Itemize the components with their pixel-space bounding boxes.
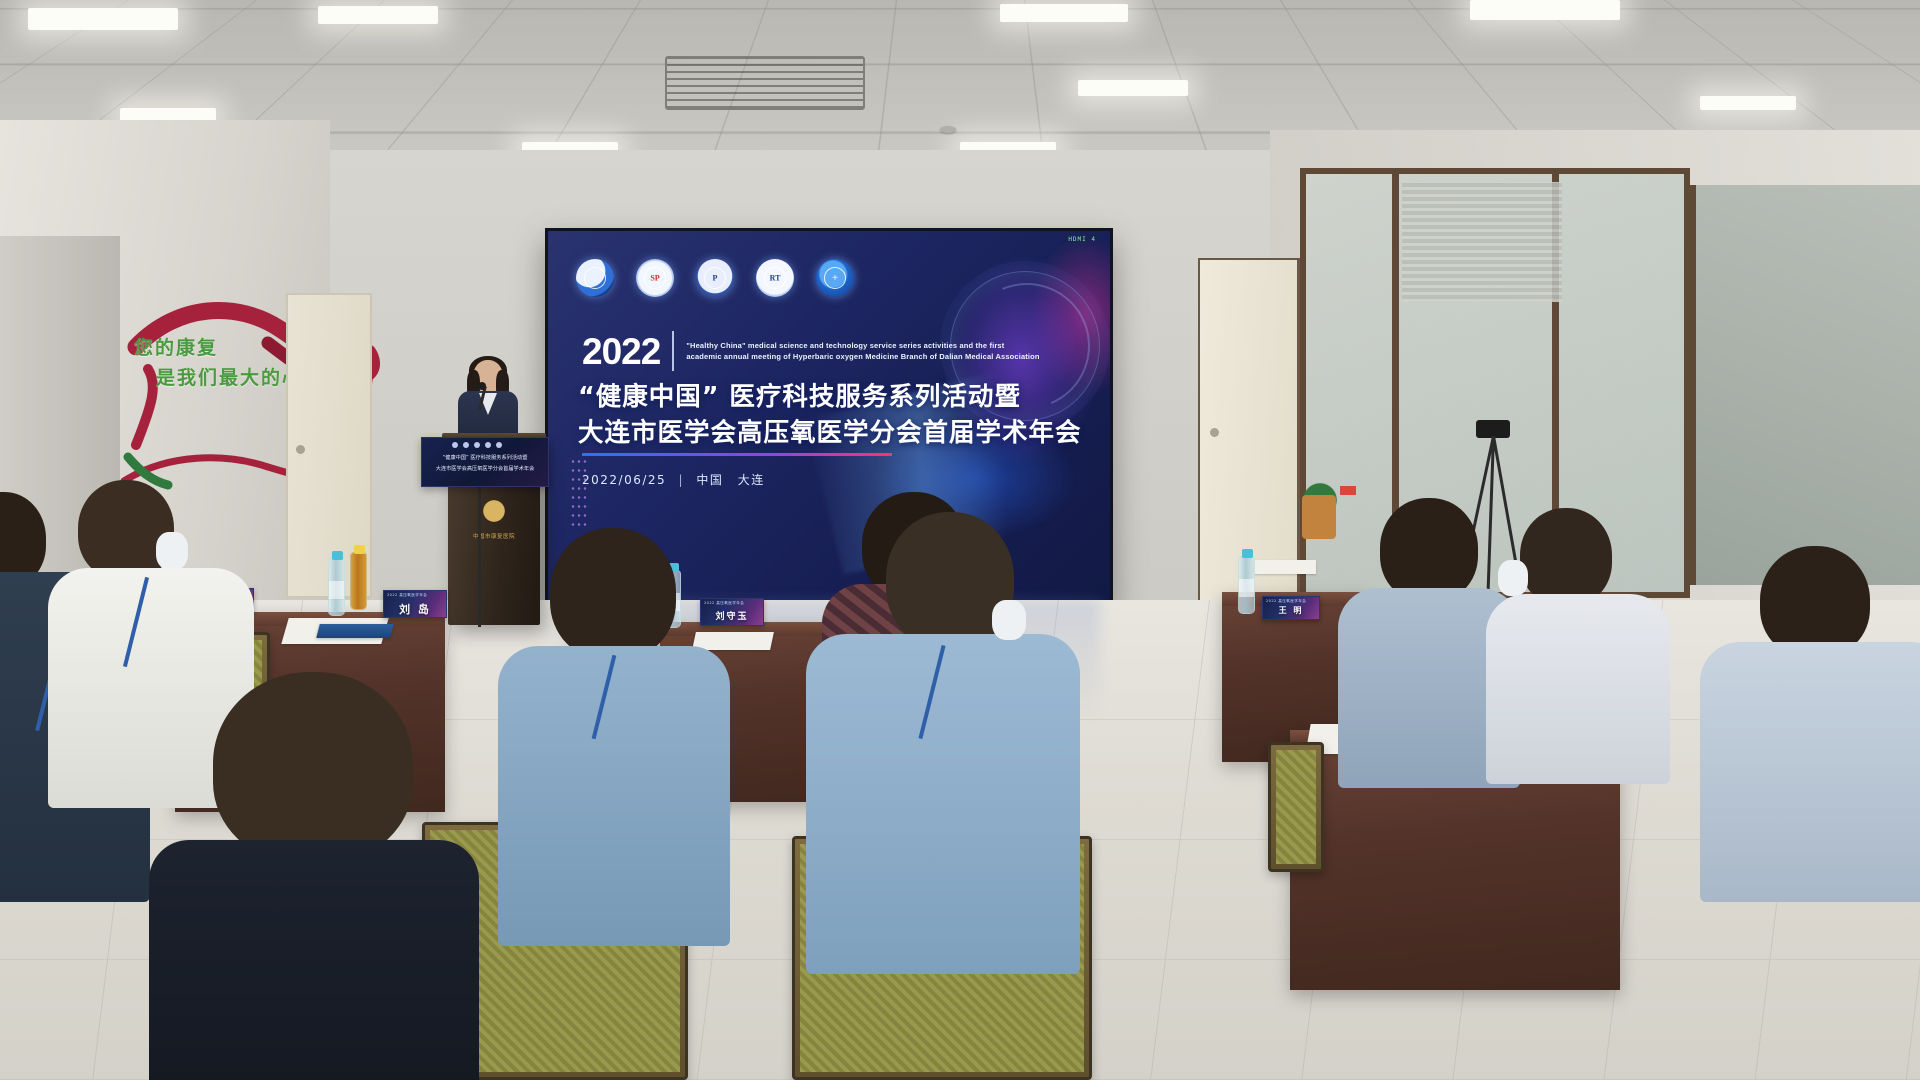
bottle-cap: [354, 545, 365, 554]
logo-mark-label: P: [713, 274, 718, 283]
screen-year: 2022: [582, 333, 660, 370]
screen-chinese-title: “健康中国” 医疗科技服务系列活动暨 大连市医学会高压氧医学分会首届学术年会: [578, 379, 1082, 451]
screen-decorative-dots: [570, 457, 588, 527]
attendee-head: [1520, 508, 1612, 606]
screen-date-line: 2022/06/25 | 中国 大连: [582, 471, 765, 488]
face-mask: [156, 532, 188, 570]
event-country: 中国: [696, 473, 723, 487]
podium-sign: “健康中国” 医疗科技服务系列活动暨 大连市医学会高压氧医学分会首届学术年会: [421, 437, 549, 487]
podium-sign-line-1: “健康中国” 医疗科技服务系列活动暨: [422, 454, 548, 461]
water-bottle: [1238, 556, 1255, 614]
ceiling-light: [28, 8, 178, 30]
logo-ring: [584, 267, 607, 290]
nametent-center: 2022 高压氧医学年会 刘 岛: [383, 590, 447, 618]
attendee-bottom-right: [1700, 546, 1920, 886]
attendee-far-right: [1486, 508, 1666, 768]
chair: [1268, 742, 1324, 872]
ceiling-light: [1700, 96, 1796, 110]
nametent-right: 2022 高压氧医学年会 王 明: [1262, 596, 1320, 620]
attendee-body: [149, 840, 479, 1080]
hospital-emblem-icon: [481, 498, 507, 524]
attendee-body: [806, 634, 1080, 974]
screen-accent-underline: [582, 453, 892, 456]
screen-logo-row: SP P RT +: [576, 259, 854, 297]
chinese-title-line-2: 大连市医学会高压氧医学分会首届学术年会: [578, 415, 1082, 451]
nametent-top-label: 2022 高压氧医学年会: [1266, 599, 1306, 604]
ceiling-air-vent: [665, 56, 865, 110]
logo-hyperbaric-branch: P: [696, 259, 734, 297]
microphone-head-icon: [478, 382, 486, 390]
window-blind: [1402, 182, 1562, 302]
ceiling-light: [1078, 80, 1188, 96]
glass-partition-far: [1690, 185, 1920, 585]
attendee-body: [1486, 594, 1670, 784]
english-line-2: academic annual meeting of Hyperbaric ox…: [686, 351, 1039, 362]
attendee-head: [213, 672, 413, 862]
screen-english-subtitle: "Healthy China" medical science and tech…: [686, 340, 1039, 363]
folder: [316, 624, 393, 638]
english-line-1: "Healthy China" medical science and tech…: [686, 340, 1039, 351]
conference-room-scene: 您的康复 是我们最大的心愿 HDMI 4: [0, 0, 1920, 1080]
nametent-top-label: 2022 高压氧医学年会: [387, 593, 427, 598]
date-separator: |: [679, 473, 685, 487]
door-knob-icon: [1210, 428, 1219, 437]
ceiling-light: [1470, 0, 1620, 20]
logo-mark-label: SP: [650, 274, 659, 283]
podium-sign-logo-row: [452, 442, 502, 448]
logo-mark-label: +: [832, 272, 838, 284]
ceiling-light: [1000, 4, 1128, 22]
chinese-title-line-1: “健康中国” 医疗科技服务系列活动暨: [578, 379, 1082, 415]
podium-sign-logo: [485, 442, 491, 448]
podium-sign-line-2: 大连市医学会高压氧医学分会首届学术年会: [422, 465, 548, 472]
small-chair: [1302, 495, 1336, 539]
podium-sign-stand: [478, 487, 481, 627]
attendee-center: [806, 512, 1076, 932]
attendee-center-left: [498, 528, 728, 908]
face-mask: [992, 600, 1026, 640]
chair-cushion: [1276, 750, 1316, 864]
attendee-head: [1380, 498, 1478, 602]
water-bottle: [328, 558, 345, 616]
logo-rt-institute: RT: [756, 259, 794, 297]
bottle-label: [1239, 579, 1254, 597]
event-city: 大连: [738, 473, 765, 487]
bottle-label: [329, 581, 344, 599]
attendee-body: [1700, 642, 1920, 902]
document-paper: [1254, 560, 1316, 574]
screen-year-row: 2022 "Healthy China" medical science and…: [582, 331, 1040, 371]
bottle-cap: [1242, 549, 1253, 558]
ceiling-light: [318, 6, 438, 24]
podium-sign-logo: [474, 442, 480, 448]
smoke-detector: [940, 126, 956, 133]
logo-mark-label: RT: [770, 274, 781, 283]
podium-sign-logo: [452, 442, 458, 448]
vertical-divider: [672, 331, 674, 371]
podium-sign-logo: [463, 442, 469, 448]
mural-line-1: 您的康复: [134, 333, 218, 360]
wall-outlet: [1340, 486, 1356, 495]
attendee-bottom-left: [185, 672, 445, 1080]
face-mask: [1498, 560, 1528, 596]
logo-chinese-medical-association: SP: [636, 259, 674, 297]
nametent-name: 刘 岛: [384, 601, 446, 617]
door-knob-icon: [296, 445, 305, 454]
logo-healthy-china: +: [816, 259, 854, 297]
bottle-cap: [332, 551, 343, 560]
event-date: 2022/06/25: [582, 473, 666, 487]
attendee-body: [498, 646, 730, 946]
attendee-head: [550, 528, 676, 660]
nametent-name: 王 明: [1263, 605, 1319, 616]
tea-bottle: [350, 552, 367, 610]
podium-sign-logo: [496, 442, 502, 448]
signal-status-indicator: HDMI 4: [1068, 236, 1096, 243]
logo-dalian-medical-association: [576, 259, 614, 297]
